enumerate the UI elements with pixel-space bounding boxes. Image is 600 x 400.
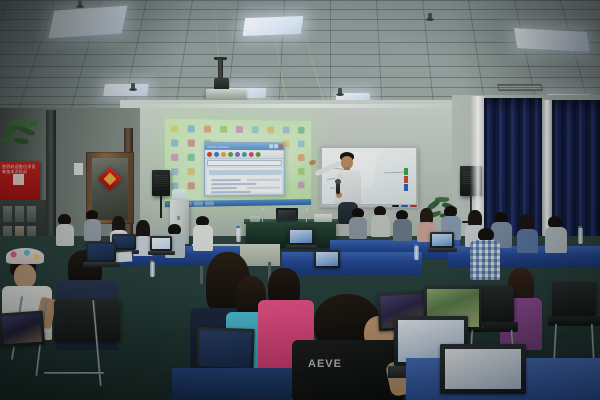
desktop-icon bbox=[171, 125, 178, 132]
desktop-icon bbox=[188, 182, 195, 189]
wall-light-strip bbox=[130, 104, 460, 108]
whiteboard-marker[interactable] bbox=[410, 205, 417, 207]
bottle-cap bbox=[414, 244, 418, 246]
desk-microphone-head bbox=[261, 208, 264, 211]
desk-microphone-stand bbox=[306, 210, 307, 222]
desktop-icon bbox=[188, 140, 195, 147]
search-icon bbox=[242, 152, 247, 157]
water-bottle bbox=[578, 228, 583, 244]
patterned-sun-hat bbox=[6, 248, 44, 264]
address-bar[interactable] bbox=[207, 160, 282, 166]
water-bottle bbox=[150, 262, 155, 277]
projected-browser-window: Internet Explorer bbox=[204, 142, 285, 197]
window-controls[interactable] bbox=[269, 144, 282, 148]
potted-plant-left bbox=[0, 118, 42, 156]
presenter bbox=[330, 152, 370, 222]
refresh-icon bbox=[228, 151, 233, 156]
paper-sheet bbox=[114, 251, 133, 262]
taskbar-item bbox=[194, 202, 203, 206]
whiteboard-sticker bbox=[404, 184, 408, 191]
desktop-icon bbox=[220, 126, 227, 133]
desktop-icon bbox=[267, 126, 274, 133]
favorites-icon bbox=[249, 152, 254, 157]
student-table bbox=[282, 252, 422, 276]
sprinkler-head-icon bbox=[338, 88, 342, 95]
desk-equipment-box bbox=[250, 216, 260, 222]
stacking-chair-back[interactable] bbox=[54, 300, 120, 342]
desktop-icon bbox=[188, 125, 195, 132]
ceiling-light-panel bbox=[243, 16, 304, 36]
classroom-photo: 热烈欢迎各位学员参加本次培训 bbox=[0, 0, 600, 400]
table-cloth-edge bbox=[172, 368, 292, 400]
stacking-chair-back[interactable] bbox=[552, 282, 596, 316]
sprinkler-head-icon bbox=[78, 0, 82, 7]
desktop-icon bbox=[171, 168, 178, 175]
desktop-icon bbox=[298, 141, 305, 148]
browser-title-text: Internet Explorer bbox=[207, 144, 229, 148]
desktop-icon bbox=[298, 154, 305, 161]
wall-pillar-left bbox=[46, 110, 56, 250]
water-bottle bbox=[236, 228, 241, 242]
banner-seal-block bbox=[13, 174, 24, 185]
bottle-cap bbox=[578, 226, 582, 228]
whiteboard-sticker bbox=[404, 168, 408, 175]
sprinkler-head-icon bbox=[131, 83, 135, 90]
print-icon bbox=[256, 152, 261, 157]
desktop-icon bbox=[188, 154, 195, 161]
minimize-icon[interactable] bbox=[269, 144, 273, 148]
desktop-icon bbox=[298, 168, 305, 175]
chair-rail bbox=[44, 372, 104, 374]
water-bottle bbox=[414, 246, 419, 260]
browser-toolbar[interactable] bbox=[205, 150, 284, 159]
close-icon[interactable] bbox=[279, 144, 283, 148]
desktop-icon bbox=[236, 126, 243, 133]
desk-microphone-head bbox=[305, 208, 308, 211]
air-vent bbox=[497, 84, 543, 91]
taskbar-item bbox=[205, 201, 214, 205]
desktop-icon bbox=[188, 168, 195, 175]
desktop-icon bbox=[298, 182, 305, 189]
desktop-icon bbox=[204, 125, 211, 132]
student-head bbox=[14, 264, 36, 288]
maximize-icon[interactable] bbox=[274, 144, 278, 148]
desktop-icon bbox=[171, 154, 178, 161]
home-icon bbox=[235, 151, 240, 156]
sprinkler-head-icon bbox=[428, 13, 432, 20]
red-wall-banner: 热烈欢迎各位学员参加本次培训 bbox=[0, 161, 40, 200]
whiteboard-sticker bbox=[404, 176, 408, 183]
browser-logo-icon bbox=[207, 151, 212, 156]
browser-content bbox=[207, 168, 282, 193]
desktop-icon bbox=[252, 126, 259, 133]
forward-icon bbox=[221, 151, 226, 156]
bottle-cap bbox=[150, 260, 154, 262]
whiteboard-marker[interactable] bbox=[401, 205, 408, 207]
back-icon bbox=[214, 151, 219, 156]
wall-notice-paper bbox=[74, 163, 83, 175]
whiteboard-marker[interactable] bbox=[392, 205, 399, 207]
desktop-icon bbox=[171, 139, 178, 146]
microphone-head-icon bbox=[335, 179, 341, 184]
bottle-cap bbox=[236, 226, 240, 228]
tshirt-print: AEVE bbox=[308, 358, 342, 370]
wall-speaker-left bbox=[152, 170, 170, 196]
desk-microphone-stand bbox=[262, 210, 263, 222]
instructor-laptop bbox=[276, 208, 298, 222]
speaker-stand bbox=[160, 196, 162, 218]
water-cooler-tap-icon[interactable] bbox=[177, 216, 180, 220]
desktop-icon bbox=[283, 127, 290, 134]
desktop-icon bbox=[298, 127, 305, 134]
